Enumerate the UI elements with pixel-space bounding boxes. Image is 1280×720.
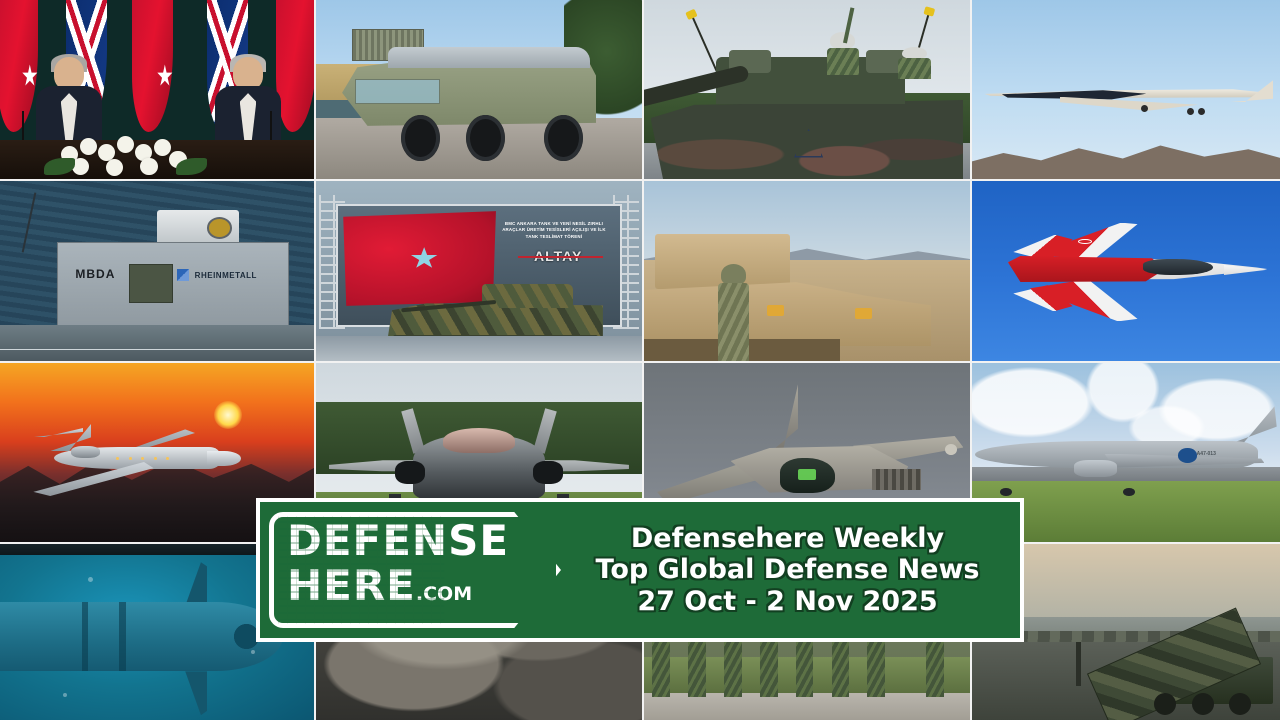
mbda-logo-text: MBDA [75, 267, 115, 281]
banner-headline: Defensehere Weekly Top Global Defense Ne… [561, 523, 1020, 617]
collage-cell-x59-supersonic-jet [972, 0, 1280, 179]
collage-cell-naval-laser-weapon: MBDA RHEINMETALL [0, 181, 314, 361]
defensehere-logo[interactable]: DEFENSE HERE.COM [269, 512, 561, 628]
scene-x59-jet [972, 0, 1280, 179]
scene-altay-ceremony: BMC ANKARA TANK VE YENİ NESİL ZIRHLI ARA… [316, 181, 642, 361]
logo-line-2: HERE.COM [287, 565, 499, 606]
collage-cell-altay-tank-delivery: BMC ANKARA TANK VE YENİ NESİL ZIRHLI ARA… [316, 181, 642, 361]
logo-tld: .COM [416, 583, 472, 605]
logo-line-1: DEFENSE [287, 520, 499, 561]
scene-naval-laser: MBDA RHEINMETALL [0, 181, 314, 361]
altay-logo-text: ALTAY [513, 248, 604, 264]
banner-date-range: 27 Oct - 2 Nov 2025 [561, 586, 1014, 617]
banner-title-line-1: Defensehere Weekly [561, 523, 1014, 554]
rheinmetall-logo-text: RHEINMETALL [195, 271, 257, 280]
collage-cell-main-battle-tank-crew [644, 0, 970, 179]
scene-signing-ceremony [0, 0, 314, 179]
altay-banner-text: BMC ANKARA TANK VE YENİ NESİL ZIRHLI ARA… [496, 221, 612, 241]
logo-wordmark: DEFENSE HERE.COM [287, 520, 499, 606]
collage-cell-bradley-ifv-desert [644, 181, 970, 361]
scene-bradley-ifv [644, 181, 970, 361]
rheinmetall-mark-icon [177, 269, 189, 281]
collage-cell-amphibious-bridging-vehicle [316, 0, 642, 179]
photo-collage-grid: MBDA RHEINMETALL BMC ANKARA TANK VE YENİ… [0, 0, 1280, 720]
weekly-roundup-banner: DEFENSE HERE.COM Defensehere Weekly Top … [256, 498, 1024, 642]
collage-cell-hurjet-trainer [972, 181, 1280, 361]
scene-tank-crew [644, 0, 970, 179]
scene-amphibious-vehicle [316, 0, 642, 179]
aircraft-tail-number: A47-013 [1197, 451, 1216, 457]
banner-title-line-2: Top Global Defense News [561, 554, 1014, 585]
collage-cell-uk-turkey-signing [0, 0, 314, 179]
logo-line-2-text: HERE [287, 561, 416, 610]
scene-red-trainer-jet [972, 181, 1280, 361]
